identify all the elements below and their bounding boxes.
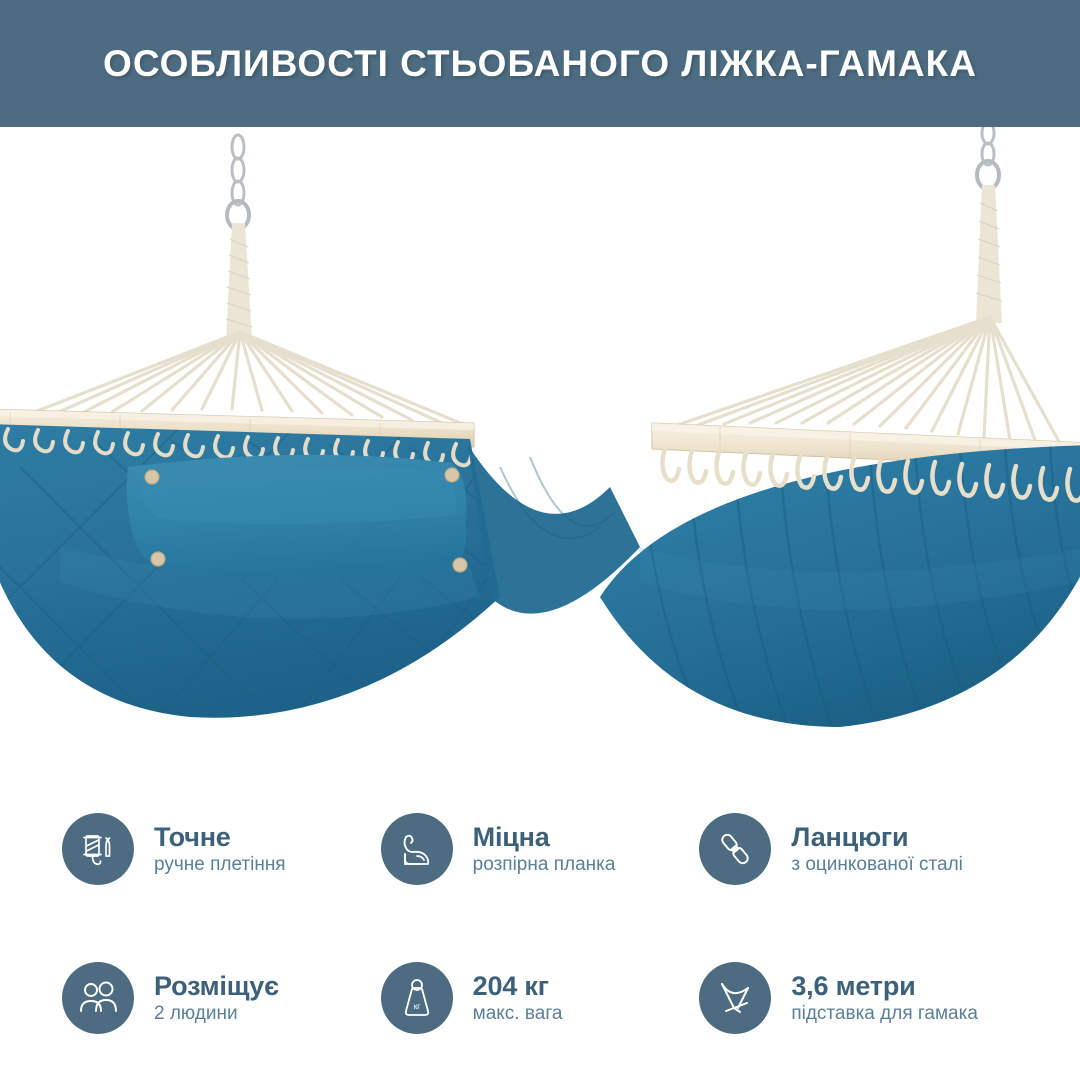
hammock-stand-icon	[699, 962, 771, 1034]
hammock-illustration	[0, 127, 1080, 772]
thread-spool-needle-icon	[62, 813, 134, 885]
page-title: ОСОБЛИВОСТІ СТЬОБАНОГО ЛІЖКА-ГАМАКА	[103, 43, 977, 85]
weight-unit-label: кг	[413, 1001, 420, 1011]
feature-text: Міцна розпірна планка	[473, 823, 616, 875]
feature-text: 204 кг макс. вага	[473, 972, 563, 1024]
feature-text: 3,6 метри підставка для гамака	[791, 972, 978, 1024]
feature-subtitle: підставка для гамака	[791, 1004, 978, 1024]
feature-text: Розміщує 2 людини	[154, 972, 279, 1024]
hero-product-image	[0, 127, 1080, 772]
feature-subtitle: розпірна планка	[473, 855, 616, 875]
pillow-button	[453, 558, 467, 572]
feature-item-stand-length[interactable]: 3,6 метри підставка для гамака	[699, 931, 1018, 1065]
two-people-icon	[62, 962, 134, 1034]
feature-title: 3,6 метри	[791, 972, 978, 1001]
feature-grid: Точне ручне плетіння Міцна розпірна план…	[0, 772, 1080, 1080]
feature-title: Точне	[154, 823, 286, 852]
feature-item-max-weight[interactable]: кг 204 кг макс. вага	[381, 931, 700, 1065]
feature-text: Точне ручне плетіння	[154, 823, 286, 875]
flexed-bicep-icon	[381, 813, 453, 885]
feature-subtitle: 2 людини	[154, 1004, 279, 1024]
weight-kg-icon: кг	[381, 962, 453, 1034]
feature-item-capacity[interactable]: Розміщує 2 людини	[62, 931, 381, 1065]
header-bar: ОСОБЛИВОСТІ СТЬОБАНОГО ЛІЖКА-ГАМАКА	[0, 0, 1080, 127]
pillow-button	[445, 468, 459, 482]
chain-link-icon	[699, 813, 771, 885]
feature-subtitle: з оцинкованої сталі	[791, 855, 963, 875]
feature-title: Ланцюги	[791, 823, 963, 852]
feature-title: Міцна	[473, 823, 616, 852]
hammock-pillow	[127, 455, 467, 581]
feature-title: 204 кг	[473, 972, 563, 1001]
feature-text: Ланцюги з оцинкованої сталі	[791, 823, 963, 875]
pillow-button	[151, 552, 165, 566]
pillow-button	[145, 470, 159, 484]
feature-item-strong-spreader-bar[interactable]: Міцна розпірна планка	[381, 782, 700, 916]
feature-title: Розміщує	[154, 972, 279, 1001]
feature-item-precise-weaving[interactable]: Точне ручне плетіння	[62, 782, 381, 916]
feature-subtitle: макс. вага	[473, 1004, 563, 1024]
feature-item-chains[interactable]: Ланцюги з оцинкованої сталі	[699, 782, 1018, 916]
feature-subtitle: ручне плетіння	[154, 855, 286, 875]
infographic-page: ОСОБЛИВОСТІ СТЬОБАНОГО ЛІЖКА-ГАМАКА	[0, 0, 1080, 1080]
